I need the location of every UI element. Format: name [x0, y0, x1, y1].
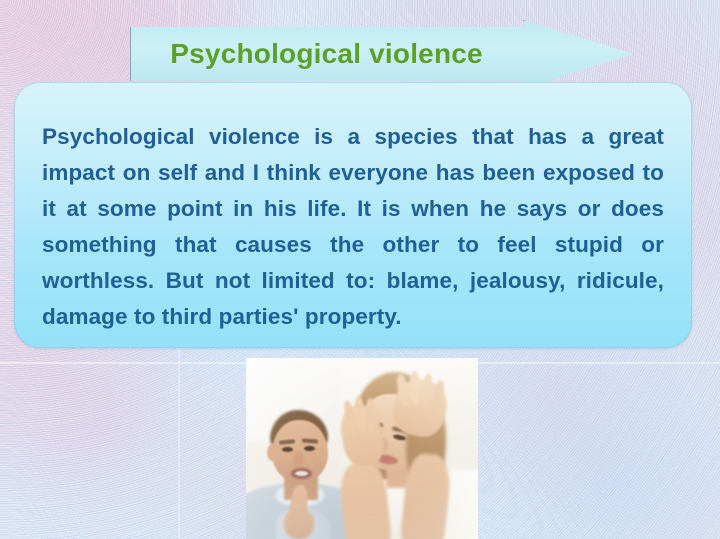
man-teeth [295, 471, 308, 476]
man-eye-left [282, 447, 293, 452]
slide-canvas: Psychological violence Psychological vio… [0, 0, 720, 539]
slide-title: Psychological violence [130, 27, 523, 81]
body-callout-bubble: Psychological violence is a species that… [14, 82, 692, 348]
man-nose [293, 452, 304, 467]
couple-argument-photo [246, 358, 478, 539]
woman-finger-left-3 [366, 398, 376, 432]
body-paragraph: Psychological violence is a species that… [42, 119, 664, 335]
title-arrow-banner: Psychological violence [130, 20, 634, 88]
man-eye-right [304, 446, 315, 451]
man-ear [267, 444, 279, 461]
